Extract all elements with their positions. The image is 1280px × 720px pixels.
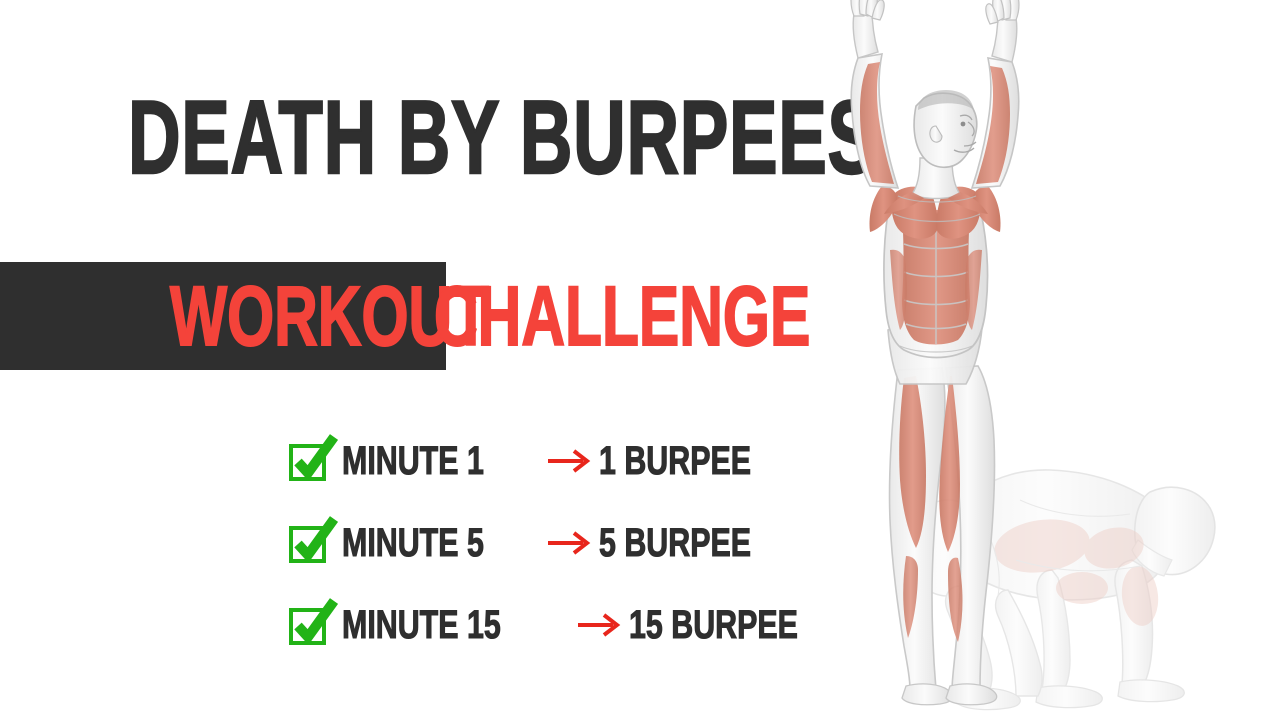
list-item-text: MINUTE 1 1 BURPEE <box>342 439 834 483</box>
standing-figure <box>851 0 1019 705</box>
poster-canvas: DEATH BY BURPEES WORKOUT CHALLENGE MINUT… <box>0 0 1280 720</box>
checkbox-checked-icon[interactable] <box>290 525 326 561</box>
burpee-anatomy-illustration <box>820 0 1280 720</box>
list-item[interactable]: MINUTE 1 1 BURPEE <box>290 436 894 486</box>
list-item-reps: 5 BURPEE <box>599 521 778 565</box>
subtitle: WORKOUT CHALLENGE <box>170 276 904 356</box>
page-title: DEATH BY BURPEES <box>128 88 611 188</box>
list-item[interactable]: MINUTE 5 5 BURPEE <box>290 518 894 568</box>
list-item-minute: MINUTE 15 <box>342 603 521 647</box>
subtitle-word-workout: WORKOUT <box>170 276 422 356</box>
list-item-minute: MINUTE 1 <box>342 439 498 483</box>
checkbox-checked-icon[interactable] <box>290 607 326 643</box>
checkbox-checked-icon[interactable] <box>290 443 326 479</box>
list-item[interactable]: MINUTE 15 15 BURPEE <box>290 600 894 650</box>
checklist: MINUTE 1 1 BURPEE MINUTE 5 <box>290 436 894 650</box>
list-item-minute: MINUTE 5 <box>342 521 498 565</box>
subtitle-word-challenge: CHALLENGE <box>434 276 772 356</box>
right-arrow-icon <box>577 612 623 638</box>
list-item-text: MINUTE 15 15 BURPEE <box>342 603 894 647</box>
list-item-text: MINUTE 5 5 BURPEE <box>342 521 834 565</box>
right-arrow-icon <box>547 448 593 474</box>
list-item-reps: 15 BURPEE <box>629 603 830 647</box>
list-item-reps: 1 BURPEE <box>599 439 778 483</box>
right-arrow-icon <box>547 530 593 556</box>
